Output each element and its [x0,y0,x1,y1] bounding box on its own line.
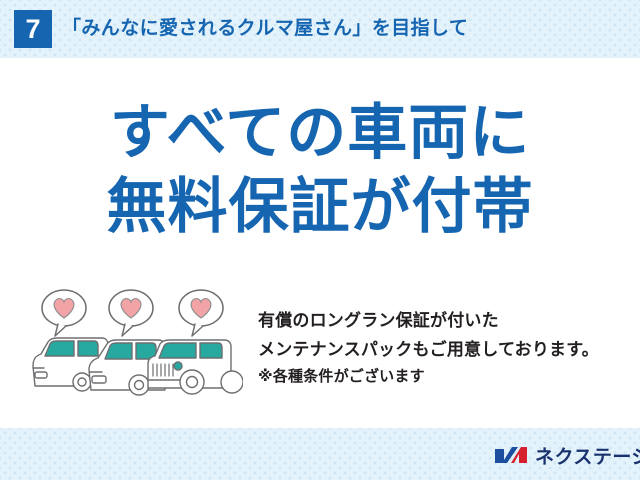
promo-banner: 7 「みんなに愛されるクルマ屋さん」を目指して すべての車両に 無料保証が付帯 [0,0,640,480]
brand-name: ネクステージ [535,442,640,469]
headline: すべての車両に 無料保証が付帯 [0,96,640,245]
headline-line-2: 無料保証が付帯 [0,170,640,244]
brand-logo: ネクステージ [494,440,640,470]
header-title: 「みんなに愛されるクルマ屋さん」を目指して [62,13,468,40]
headline-line-1: すべての車両に [0,96,640,170]
body-copy: 有償のロングラン保証が付いた メンテナンスパックもご用意しております。 ※各種条… [258,306,630,390]
content-card: すべての車両に 無料保証が付帯 [0,58,640,428]
body-line-3-note: ※各種条件がございます [258,364,630,390]
body-line-1: 有償のロングラン保証が付いた [258,306,630,335]
n-logo-icon [494,443,528,467]
body-line-2: メンテナンスパックもご用意しております。 [258,335,630,364]
header: 7 「みんなに愛されるクルマ屋さん」を目指して [0,0,640,58]
car-right [148,340,243,394]
cars-illustration [28,286,243,398]
step-number-badge: 7 [14,10,52,48]
